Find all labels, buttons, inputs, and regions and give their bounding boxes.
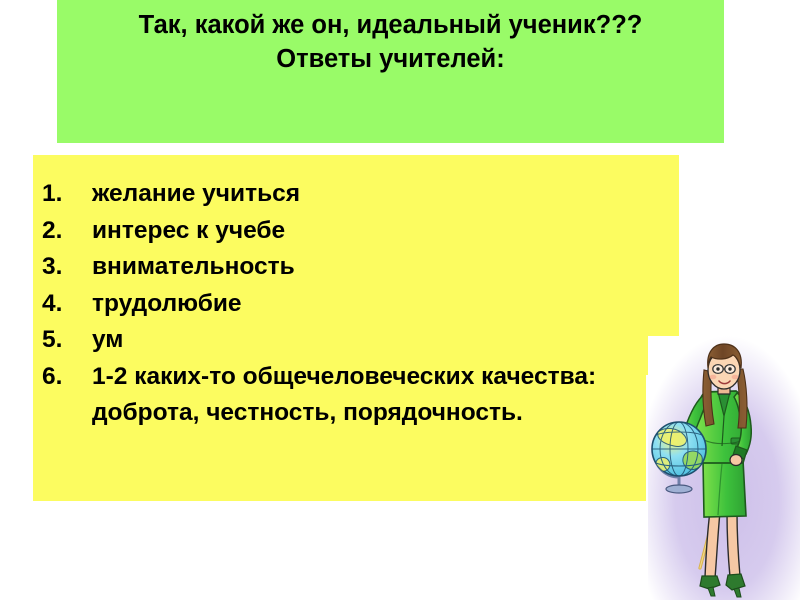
list-item: 4. трудолюбие (42, 286, 642, 323)
list-item: 3. внимательность (42, 249, 642, 286)
teacher-with-globe-image (648, 336, 800, 600)
list-item-text: трудолюбие (92, 286, 242, 323)
list-item: 2. интерес к учебе (42, 213, 642, 250)
answers-list: 1. желание учиться 2. интерес к учебе 3.… (42, 176, 642, 432)
list-item: 1. желание учиться (42, 176, 642, 213)
answers-panel: 1. желание учиться 2. интерес к учебе 3.… (33, 155, 646, 501)
skirt (703, 460, 746, 517)
list-item: 5. ум (42, 322, 642, 359)
list-item-text: внимательность (92, 249, 295, 286)
list-item: 6. 1-2 каких-то общечеловеческих качеств… (42, 359, 642, 432)
list-item-number: 5. (42, 322, 92, 359)
list-item-number: 4. (42, 286, 92, 323)
list-item-number: 6. (42, 359, 92, 396)
list-item-text: интерес к учебе (92, 213, 285, 250)
list-item-text: 1-2 каких-то общечеловеческих качества: … (92, 359, 642, 432)
list-item-text: желание учиться (92, 176, 300, 213)
title-line-2: Ответы учителей: (57, 42, 724, 76)
list-item-number: 3. (42, 249, 92, 286)
title-line-1: Так, какой же он, идеальный ученик??? (57, 8, 724, 42)
list-item-number: 1. (42, 176, 92, 213)
list-item-text: ум (92, 322, 123, 359)
title-panel: Так, какой же он, идеальный ученик??? От… (57, 0, 724, 143)
list-item-number: 2. (42, 213, 92, 250)
